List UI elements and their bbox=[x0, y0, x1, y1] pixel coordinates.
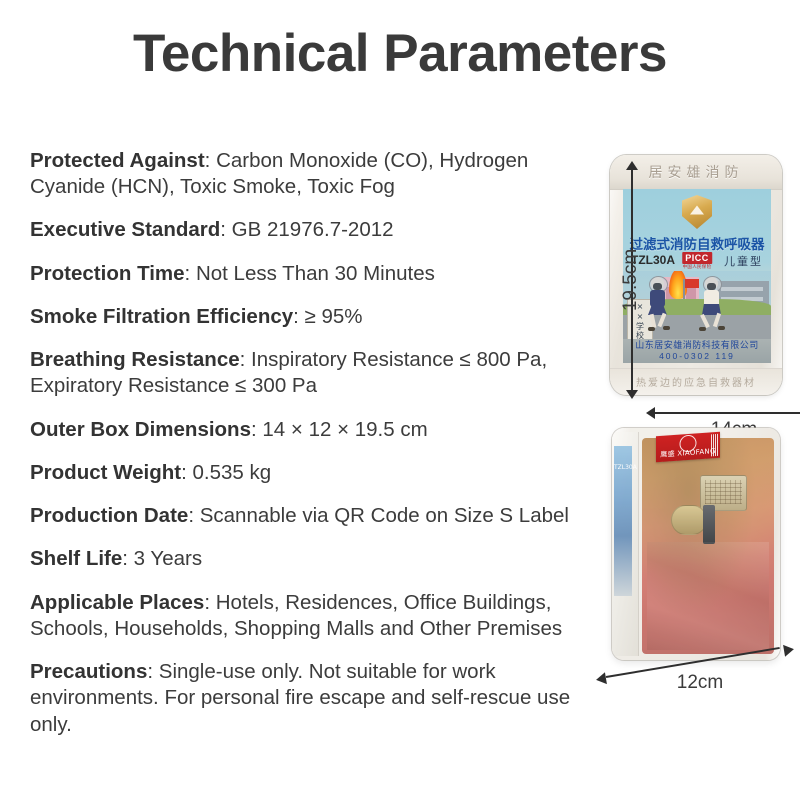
height-dimension-line: 19.5cm bbox=[620, 161, 642, 399]
filter-canister bbox=[671, 505, 707, 535]
spec-colon: : bbox=[122, 547, 133, 570]
spec-colon: : bbox=[181, 461, 192, 484]
spec-label: Smoke Filtration Efficiency bbox=[30, 305, 293, 328]
spec-label: Precautions bbox=[30, 660, 147, 683]
side-label-text: TZL30A bbox=[614, 464, 632, 471]
red-seal-sticker: 鹰盛 XIAOFANG bbox=[656, 432, 720, 462]
spec-colon: : bbox=[240, 348, 251, 371]
product-photo-angled: TZL30A 鹰盛 XIAOFANG bbox=[590, 428, 800, 698]
depth-dimension-line: 12cm bbox=[590, 650, 800, 698]
arrow-right-icon bbox=[783, 643, 795, 656]
running-student-figure bbox=[701, 277, 723, 333]
label-title-cn: 过滤式消防自救呼吸器 bbox=[623, 233, 771, 253]
label-type-cn: 儿童型 bbox=[724, 253, 763, 269]
spec-label: Product Weight bbox=[30, 461, 181, 484]
spec-item-protection-time: Protection Time: Not Less Than 30 Minute… bbox=[30, 261, 586, 287]
spec-item-executive-standard: Executive Standard: GB 21976.7-2012 bbox=[30, 217, 586, 243]
running-student-figure bbox=[647, 277, 669, 333]
spec-colon: : bbox=[220, 218, 231, 241]
spec-colon: : bbox=[204, 591, 215, 614]
respirator-mask-icon bbox=[707, 283, 716, 290]
label-company-name: 山东居安雄消防科技有限公司 bbox=[623, 338, 771, 351]
seal-text: 鹰盛 XIAOFANG bbox=[656, 446, 720, 460]
spec-item-outer-box-dimensions: Outer Box Dimensions: 14 × 12 × 19.5 cm bbox=[30, 417, 586, 443]
spec-item-production-date: Production Date: Scannable via QR Code o… bbox=[30, 503, 586, 529]
arrow-left-icon bbox=[595, 672, 607, 685]
spec-value: GB 21976.7-2012 bbox=[232, 218, 394, 241]
gold-shield-badge bbox=[682, 195, 712, 229]
spec-value: Scannable via QR Code on Size S Label bbox=[200, 504, 569, 527]
spec-colon: : bbox=[147, 660, 158, 683]
spec-value: 3 Years bbox=[134, 547, 202, 570]
spec-value: Not Less Than 30 Minutes bbox=[196, 262, 435, 285]
side-label: TZL30A bbox=[614, 446, 632, 596]
flag-icon bbox=[685, 279, 699, 288]
spec-value: ≥ 95% bbox=[305, 305, 363, 328]
spec-label: Protection Time bbox=[30, 262, 185, 285]
spec-label: Breathing Resistance bbox=[30, 348, 240, 371]
spec-value: 14 × 12 × 19.5 cm bbox=[262, 418, 427, 441]
product-label: 过滤式消防自救呼吸器 TZL30A PICC 中国人民保险 儿童型 bbox=[623, 189, 771, 363]
spec-item-protected-against: Protected Against: Carbon Monoxide (CO),… bbox=[30, 148, 586, 200]
figure-shoe bbox=[718, 326, 725, 330]
spec-colon: : bbox=[188, 504, 199, 527]
figure-shoe bbox=[663, 326, 670, 330]
spec-label: Executive Standard bbox=[30, 218, 220, 241]
escape-hood-contents bbox=[642, 438, 774, 654]
spec-colon: : bbox=[205, 149, 216, 172]
spec-item-precautions: Precautions: Single-use only. Not suitab… bbox=[30, 659, 586, 738]
hood-strap bbox=[703, 505, 715, 544]
specifications-list: Protected Against: Carbon Monoxide (CO),… bbox=[30, 148, 586, 755]
spec-item-breathing-resistance: Breathing Resistance: Inspiratory Resist… bbox=[30, 347, 586, 399]
spec-label: Production Date bbox=[30, 504, 188, 527]
spec-item-smoke-filtration-efficiency: Smoke Filtration Efficiency: ≥ 95% bbox=[30, 304, 586, 330]
spec-label: Applicable Places bbox=[30, 591, 204, 614]
spec-label: Outer Box Dimensions bbox=[30, 418, 251, 441]
spec-colon: : bbox=[293, 305, 304, 328]
depth-dimension-label: 12cm bbox=[640, 672, 760, 694]
picc-logo: PICC bbox=[682, 252, 712, 264]
page-title: Technical Parameters bbox=[0, 26, 800, 82]
spec-label: Shelf Life bbox=[30, 547, 122, 570]
figure-shoe bbox=[699, 327, 706, 331]
label-phone-number: 400-0302 119 bbox=[623, 351, 771, 361]
product-photo-front: 居安雄消防 过滤式消防自救呼吸器 TZL30A PICC 中国人民保险 儿童型 bbox=[610, 155, 782, 395]
spec-item-applicable-places: Applicable Places: Hotels, Residences, O… bbox=[30, 590, 586, 642]
dimension-line bbox=[654, 412, 800, 414]
product-images: 居安雄消防 过滤式消防自救呼吸器 TZL30A PICC 中国人民保险 儿童型 bbox=[572, 150, 800, 730]
arrow-down-icon bbox=[626, 390, 638, 399]
plastic-case-angled: TZL30A 鹰盛 XIAOFANG bbox=[612, 428, 780, 660]
picc-logo-subtext: 中国人民保险 bbox=[683, 264, 712, 270]
spec-item-shelf-life: Shelf Life: 3 Years bbox=[30, 546, 586, 572]
spec-label: Protected Against bbox=[30, 149, 205, 172]
height-dimension-label: 19.5cm bbox=[620, 235, 642, 325]
figure-shoe bbox=[648, 327, 655, 331]
spec-value: 0.535 kg bbox=[193, 461, 272, 484]
respirator-mask-icon bbox=[653, 283, 662, 290]
spec-colon: : bbox=[251, 418, 262, 441]
spec-item-product-weight: Product Weight: 0.535 kg bbox=[30, 460, 586, 486]
hood-fabric-folds bbox=[647, 542, 768, 650]
product-spec-page: Technical Parameters Protected Against: … bbox=[0, 0, 800, 800]
spec-colon: : bbox=[185, 262, 196, 285]
label-illustration: × × 学 校 bbox=[623, 271, 771, 339]
case-side-panel: TZL30A bbox=[612, 432, 639, 656]
